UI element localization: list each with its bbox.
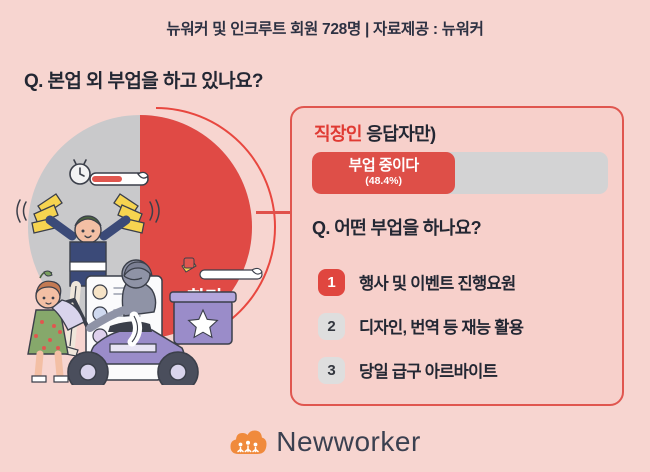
footer-logo: Newworker [0,426,650,458]
timer-icon [70,160,90,184]
money-bar-icon [90,172,148,185]
woman-figure [28,271,68,382]
rank-item-label: 행사 및 이벤트 진행요원 [359,270,515,294]
panel-title-rest: 응답자만) [362,124,436,144]
detail-panel: 직장인 응답자만) 부업 중이다 (48.4%) Q. 어떤 부업을 하나요? … [290,106,624,406]
infographic-canvas: 뉴워커 및 인크루트 회원 728명 | 자료제공 : 뉴워커 Q. 본업 외 … [0,0,650,472]
small-money-bar-icon [182,258,262,279]
logo-wordmark: Newworker [276,426,421,458]
rank-number-badge: 2 [318,313,345,340]
rank-number-badge: 1 [318,269,345,296]
progress-bar-label: 부업 중이다 [349,158,419,175]
cloud-logo-icon [229,427,267,457]
panel-title: 직장인 응답자만) [314,120,436,146]
sub-question: Q. 어떤 부업을 하나요? [312,214,481,240]
progress-bar-percent: (48.4%) [365,176,402,188]
side-job-illustration [14,150,274,385]
motion-lines-right [150,200,159,222]
list-item: 3당일 급구 아르바이트 [318,348,618,392]
motion-lines-left [17,200,26,222]
list-item: 2디자인, 번역 등 재능 활용 [318,304,618,348]
rank-number-badge: 3 [318,357,345,384]
ranked-answer-list: 1행사 및 이벤트 진행요원2디자인, 번역 등 재능 활용3당일 급구 아르바… [318,260,618,392]
header-bar: 뉴워커 및 인크루트 회원 728명 | 자료제공 : 뉴워커 [0,0,650,56]
side-job-progress-track: 부업 중이다 (48.4%) [312,152,608,194]
panel-title-highlight: 직장인 [314,124,362,144]
rank-item-label: 디자인, 번역 등 재능 활용 [359,314,523,338]
source-line: 뉴워커 및 인크루트 회원 728명 | 자료제공 : 뉴워커 [166,17,483,39]
side-job-progress-fill: 부업 중이다 (48.4%) [312,152,455,194]
main-question: Q. 본업 외 부업을 하고 있나요? [24,66,263,93]
rank-item-label: 당일 급구 아르바이트 [359,358,497,382]
list-item: 1행사 및 이벤트 진행요원 [318,260,618,304]
